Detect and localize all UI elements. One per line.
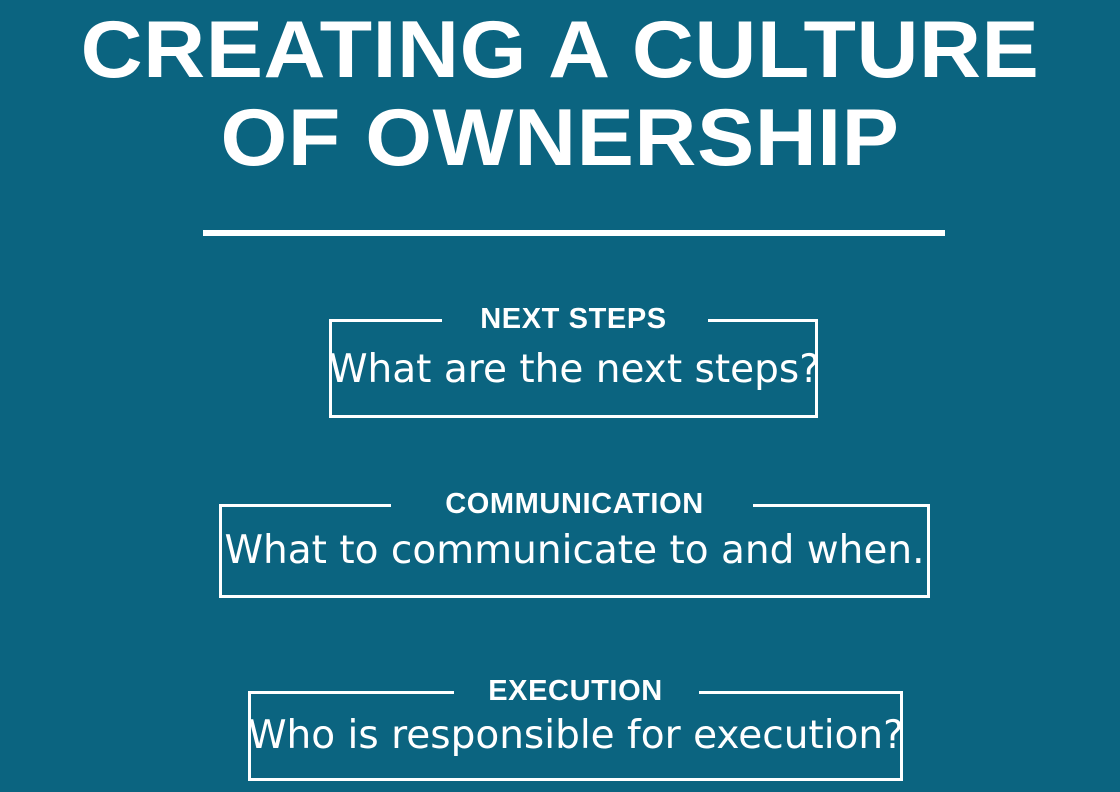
page-title-line-1: CREATING A CULTURE bbox=[0, 6, 1120, 94]
page-title-line-2: OF OWNERSHIP bbox=[0, 94, 1120, 182]
card-top-rule-right bbox=[699, 691, 903, 694]
card-top-rule-right bbox=[753, 504, 930, 507]
card-top-rule-left bbox=[248, 691, 454, 694]
section-heading-communication: COMMUNICATION bbox=[431, 489, 718, 519]
card-top-rule-right bbox=[708, 319, 818, 322]
section-heading-execution: EXECUTION bbox=[474, 676, 677, 706]
title-divider-rule bbox=[203, 230, 945, 236]
card-border-bottom bbox=[329, 415, 818, 418]
section-body-next-steps: What are the next steps? bbox=[329, 347, 818, 393]
section-body-communication: What to communicate to and when. bbox=[219, 528, 930, 574]
section-card-communication: COMMUNICATION What to communicate to and… bbox=[219, 504, 930, 598]
card-border-bottom bbox=[248, 778, 903, 781]
card-top-rule-left bbox=[219, 504, 391, 507]
card-border-bottom bbox=[219, 595, 930, 598]
section-heading-next-steps: NEXT STEPS bbox=[466, 304, 681, 334]
section-card-execution: EXECUTION Who is responsible for executi… bbox=[248, 691, 903, 781]
slide-canvas: CREATING A CULTURE OF OWNERSHIP NEXT STE… bbox=[0, 0, 1120, 792]
card-top-rule-left bbox=[329, 319, 442, 322]
section-body-execution: Who is responsible for execution? bbox=[248, 713, 903, 759]
page-title: CREATING A CULTURE OF OWNERSHIP bbox=[0, 0, 1120, 182]
section-card-next-steps: NEXT STEPS What are the next steps? bbox=[329, 319, 818, 418]
